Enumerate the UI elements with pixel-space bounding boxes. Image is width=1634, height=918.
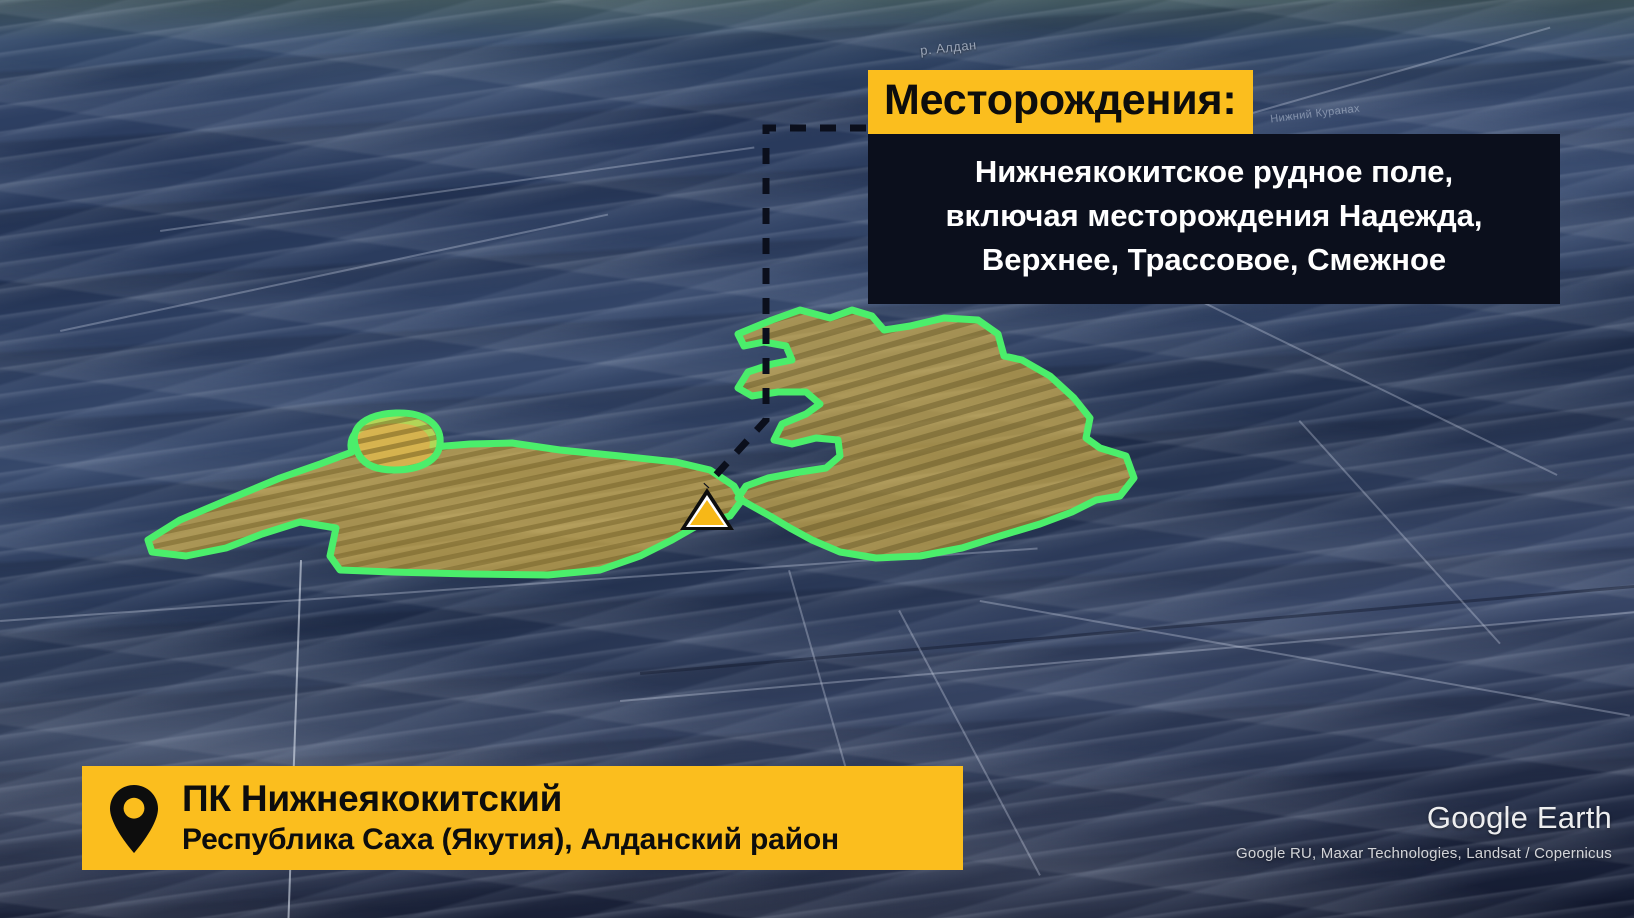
warning-triangle-marker[interactable]	[676, 484, 738, 534]
place-text-group: ПК Нижнеякокитский Республика Саха (Якут…	[182, 778, 839, 858]
deposits-callout: Месторождения: Нижнеякокитское рудное по…	[868, 70, 1560, 304]
callout-title: Месторождения:	[868, 70, 1253, 134]
deposit-polygon-east[interactable]	[738, 310, 1134, 558]
map-pin-icon	[108, 783, 160, 855]
callout-line-1: Нижнеякокитское рудное поле,	[888, 150, 1540, 194]
deposit-polygon-west-lobe[interactable]	[354, 413, 440, 470]
place-region: Республика Саха (Якутия), Алданский райо…	[182, 822, 839, 858]
earth-wordmark: Earth	[1537, 800, 1612, 835]
deposit-polygon-west[interactable]	[148, 420, 742, 575]
place-name: ПК Нижнеякокитский	[182, 778, 839, 819]
google-earth-logo: Google Earth	[1427, 800, 1612, 836]
map-screenshot: р. Алдан Нижний Куранах	[0, 0, 1634, 918]
place-banner: ПК Нижнеякокитский Республика Саха (Якут…	[82, 766, 963, 870]
callout-line-2: включая месторождения Надежда,	[888, 194, 1540, 238]
imagery-attribution: Google RU, Maxar Technologies, Landsat /…	[1236, 845, 1612, 862]
callout-body: Нижнеякокитское рудное поле, включая мес…	[868, 134, 1560, 304]
google-wordmark: Google	[1427, 800, 1528, 835]
callout-line-3: Верхнее, Трассовое, Смежное	[888, 238, 1540, 282]
